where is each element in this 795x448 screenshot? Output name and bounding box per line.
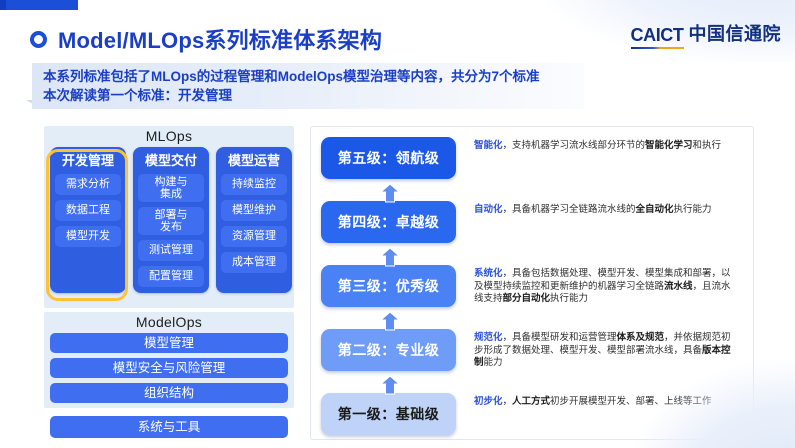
maturity-level-description: 智能化，支持机器学习流水线部分环节的智能化学习和执行 [474,137,736,153]
modelops-row[interactable]: 模型安全与风险管理 [50,358,288,378]
maturity-level-description: 初步化，人工方式初步开展模型开发、部署、上线等工作 [474,393,736,409]
mlops-column-3: 模型运营持续监控模型维护资源管理成本管理 [216,147,292,293]
up-arrow-icon [379,311,401,331]
mlops-column-header[interactable]: 模型运营 [221,151,287,169]
modelops-row[interactable]: 组织结构 [50,383,288,403]
mlops-item[interactable]: 部署与发布 [138,207,204,235]
up-arrow-icon [379,183,401,203]
mlops-block-title: MLOps [44,128,294,144]
slide-canvas: Model/MLOps系列标准体系架构 CAICT 中国信通院 本系列标准包括了… [0,0,795,448]
mlops-item[interactable]: 模型开发 [55,226,121,247]
mlops-column-2: 模型交付构建与集成部署与发布测试管理配置管理 [133,147,209,293]
tools-row[interactable]: 系统与工具 [50,416,288,438]
mlops-item[interactable]: 测试管理 [138,240,204,261]
mlops-column-header[interactable]: 模型交付 [138,151,204,169]
mlops-item[interactable]: 构建与集成 [138,174,204,202]
subtitle-line-2: 本次解读第一个标准：开发管理 [43,86,584,105]
maturity-model-panel: 第五级：领航级智能化，支持机器学习流水线部分环节的智能化学习和执行第四级：卓越级… [310,126,754,440]
mlops-item[interactable]: 模型维护 [221,200,287,221]
maturity-level-row-1: 第一级：基础级初步化，人工方式初步开展模型开发、部署、上线等工作 [321,393,743,435]
maturity-level-description: 规范化，具备模型研发和运营管理体系及规范，并依据规范初步形成了数据处理、模型开发… [474,329,736,370]
modelops-block-title: ModelOps [44,314,294,330]
mlops-item[interactable]: 配置管理 [138,266,204,287]
ring-bullet-icon [30,31,47,48]
maturity-level-box[interactable]: 第三级：优秀级 [321,265,456,307]
top-left-accent-bar [0,0,78,10]
maturity-level-box[interactable]: 第五级：领航级 [321,137,456,179]
mlops-column-header[interactable]: 开发管理 [55,151,121,169]
standards-framework-panel: MLOps 开发管理需求分析数据工程模型开发模型交付构建与集成部署与发布测试管理… [44,126,294,441]
mlops-item[interactable]: 需求分析 [55,174,121,195]
maturity-level-row-3: 第三级：优秀级系统化，具备包括数据处理、模型开发、模型集成和部署，以及模型持续监… [321,265,743,307]
mlops-block: MLOps 开发管理需求分析数据工程模型开发模型交付构建与集成部署与发布测试管理… [44,126,294,308]
maturity-level-description: 自动化，具备机器学习全链路流水线的全自动化执行能力 [474,201,736,217]
up-arrow-icon [379,247,401,267]
mlops-column-1: 开发管理需求分析数据工程模型开发 [50,147,126,293]
up-arrow-icon [379,375,401,395]
modelops-rows: 模型管理模型安全与风险管理组织结构 [50,333,288,403]
subtitle-banner: 本系列标准包括了MLOps的过程管理和ModelOps模型治理等内容，共分为7个… [32,63,584,109]
maturity-level-row-2: 第二级：专业级规范化，具备模型研发和运营管理体系及规范，并依据规范初步形成了数据… [321,329,743,371]
page-title: Model/MLOps系列标准体系架构 [58,23,382,55]
maturity-level-row-4: 第四级：卓越级自动化，具备机器学习全链路流水线的全自动化执行能力 [321,201,743,243]
modelops-block: ModelOps 模型管理模型安全与风险管理组织结构 [44,312,294,408]
maturity-level-box[interactable]: 第二级：专业级 [321,329,456,371]
mlops-item[interactable]: 数据工程 [55,200,121,221]
mlops-item[interactable]: 资源管理 [221,226,287,247]
maturity-level-box[interactable]: 第四级：卓越级 [321,201,456,243]
top-left-accent-bar-dark [0,0,6,10]
modelops-row[interactable]: 模型管理 [50,333,288,353]
maturity-level-box[interactable]: 第一级：基础级 [321,393,456,435]
caict-logo: CAICT 中国信通院 [631,20,782,49]
maturity-level-description: 系统化，具备包括数据处理、模型开发、模型集成和部署，以及模型持续监控和更新维护的… [474,265,736,306]
maturity-level-row-5: 第五级：领航级智能化，支持机器学习流水线部分环节的智能化学习和执行 [321,137,743,179]
mlops-item[interactable]: 成本管理 [221,252,287,273]
mlops-item[interactable]: 持续监控 [221,174,287,195]
page-title-row: Model/MLOps系列标准体系架构 [30,23,382,55]
logo-chinese-text: 中国信通院 [689,20,782,49]
subtitle-line-1: 本系列标准包括了MLOps的过程管理和ModelOps模型治理等内容，共分为7个… [43,67,584,86]
logo-latin-text: CAICT [631,25,684,49]
mlops-columns: 开发管理需求分析数据工程模型开发模型交付构建与集成部署与发布测试管理配置管理模型… [50,147,292,293]
